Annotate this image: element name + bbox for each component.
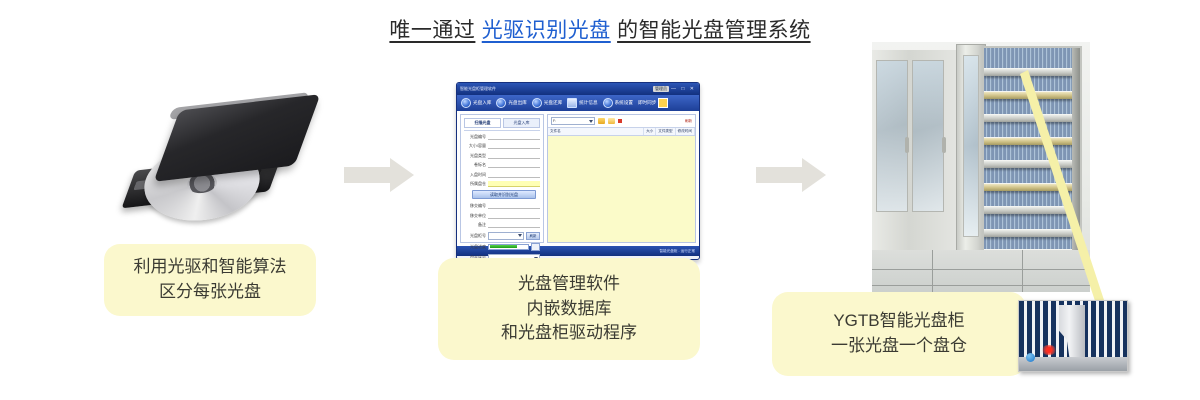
sync-icon: [658, 98, 668, 108]
cabinet-handle-right: [942, 137, 946, 153]
field-input-volume[interactable]: [488, 162, 540, 168]
field-row-transfer-id: 移交编号: [464, 203, 540, 209]
arrow-shaft: [756, 167, 804, 183]
file-pane-toolbar: F: 刷新: [548, 115, 695, 127]
toolbar-label-disc-in: 光盘入库: [473, 100, 491, 106]
shelf-8: [984, 229, 1080, 237]
column-header-filename[interactable]: 文件名: [548, 128, 644, 135]
field-input-slot[interactable]: [488, 181, 540, 187]
field-row-disc-id: 光盘编号: [464, 134, 540, 140]
arrow-head: [390, 158, 414, 192]
refresh-button[interactable]: 刷新: [526, 232, 540, 240]
cabinet-side-rail: [1072, 48, 1080, 260]
arrow-head: [802, 158, 826, 192]
column-header-modified[interactable]: 修改时间: [676, 128, 695, 135]
field-row-slot: 所属盘仓: [464, 181, 540, 187]
tab-disc-in[interactable]: 光盘入库: [503, 118, 540, 128]
toolbar-button-sync[interactable]: 即时同步: [638, 98, 668, 108]
page-title: 唯一通过 光驱识别光盘 的智能光盘管理系统: [0, 14, 1200, 44]
management-software-window[interactable]: 智能光盘柜管理软件 管理员 — □ ✕ 光盘入库 光盘出库 光盘还库 统计信息: [456, 82, 700, 260]
column-header-size[interactable]: 大小: [644, 128, 656, 135]
field-label-remark: 备注: [464, 222, 486, 228]
field-label-intake-time: 入盘时间: [464, 172, 486, 178]
shelf-5: [984, 160, 1080, 168]
field-label-cabinet: 光盘柜号: [464, 233, 486, 239]
tile-line-3: [932, 250, 933, 292]
shelf-4: [984, 137, 1080, 145]
field-row-intake-time: 入盘时间: [464, 172, 540, 178]
field-input-disc-type[interactable]: [488, 153, 540, 159]
toolbar-button-settings[interactable]: 系统设置: [603, 98, 633, 108]
shelf-6: [984, 183, 1080, 191]
read-disc-button[interactable]: 读取并识别光盘: [472, 190, 536, 199]
caption-drive-line-2: 区分每张光盘: [134, 280, 287, 305]
statusbar-text: 智能光盘柜 - 运行正常: [659, 249, 695, 254]
folder-open-icon[interactable]: [608, 118, 615, 124]
tile-line-4: [1022, 250, 1023, 292]
caption-cabinet-line-1: YGTB智能光盘柜: [831, 309, 967, 334]
field-row-cabinet-select: 光盘柜号 刷新: [464, 232, 540, 240]
app-left-panel: 扫描光盘 光盘入库 光盘编号 大小/容量 光盘类型 卷标名: [460, 114, 544, 243]
gripper-closeup-inset: [1018, 300, 1128, 372]
caption-drive-line-1: 利用光驱和智能算法: [134, 255, 287, 280]
gear-icon: [603, 98, 613, 108]
drive-path-value: F:: [553, 119, 556, 123]
title-highlight: 光驱识别光盘: [482, 19, 611, 42]
chevron-down-icon: [589, 120, 593, 123]
field-row-progress: 光盘进度: [464, 243, 540, 251]
toolbar-label-sync: 即时同步: [638, 100, 656, 106]
shelf-1: [984, 68, 1080, 76]
field-label-disc-type: 光盘类型: [464, 153, 486, 159]
field-input-remark[interactable]: [488, 222, 540, 228]
field-label-slot: 所属盘仓: [464, 181, 486, 187]
field-input-capacity[interactable]: [488, 143, 540, 149]
toolbar-label-settings: 系统设置: [615, 100, 633, 106]
tile-line-1: [872, 269, 1090, 270]
user-chip: 管理员: [653, 86, 669, 92]
tile-line-2: [872, 285, 1090, 286]
toolbar-button-stats[interactable]: 统计信息: [567, 98, 597, 108]
field-label-capacity: 大小/容量: [464, 143, 486, 149]
slide-canvas: 唯一通过 光驱识别光盘 的智能光盘管理系统 利用光驱和智能算法 区分每张光盘 智…: [0, 0, 1200, 400]
field-row-transfer-org: 移交单位: [464, 213, 540, 219]
caption-software: 光盘管理软件 内嵌数据库 和光盘柜驱动程序: [438, 258, 700, 360]
field-label-progress: 光盘进度: [464, 244, 486, 250]
field-input-intake-time[interactable]: [488, 172, 540, 178]
title-tail: 的智能光盘管理系统: [617, 19, 811, 42]
window-controls[interactable]: — □ ✕: [671, 86, 696, 92]
app-file-pane: F: 刷新 文件名 大小 文件类型 修改时间: [547, 114, 696, 243]
file-pane-refresh-link[interactable]: 刷新: [685, 119, 692, 124]
field-label-transfer-id: 移交编号: [464, 203, 486, 209]
toolbar-label-disc-return: 光盘还库: [544, 100, 562, 106]
caption-software-line-1: 光盘管理软件: [501, 272, 637, 297]
tab-scan-disc[interactable]: 扫描光盘: [464, 118, 501, 128]
arrow-shaft: [344, 167, 392, 183]
optical-drive-illustration: [118, 96, 318, 236]
app-toolbar: 光盘入库 光盘出库 光盘还库 统计信息 系统设置 即时同步: [457, 95, 699, 111]
caption-drive: 利用光驱和智能算法 区分每张光盘: [104, 244, 316, 316]
cabinet-glass-left: [876, 60, 908, 212]
file-column-headers: 文件名 大小 文件类型 修改时间: [548, 127, 695, 136]
cabinet-interior: [982, 46, 1082, 262]
caption-software-line-3: 和光盘柜驱动程序: [501, 321, 637, 346]
field-input-disc-id[interactable]: [488, 134, 540, 140]
disc-out-icon: [496, 98, 506, 108]
field-label-volume: 卷标名: [464, 162, 486, 168]
app-body: 扫描光盘 光盘入库 光盘编号 大小/容量 光盘类型 卷标名: [457, 111, 699, 246]
field-row-remark: 备注: [464, 222, 540, 228]
progress-fill: [490, 245, 517, 248]
shelf-base: [1019, 357, 1127, 371]
file-list-area[interactable]: [548, 136, 695, 242]
door-glass-pane: [963, 55, 979, 237]
cabinet-select[interactable]: [488, 232, 524, 240]
app-titlebar: 智能光盘柜管理软件 管理员 — □ ✕: [457, 83, 699, 95]
disc-return-icon: [532, 98, 542, 108]
toolbar-button-disc-in[interactable]: 光盘入库: [461, 98, 491, 108]
toolbar-label-disc-out: 光盘出库: [508, 100, 526, 106]
app-tab-strip: 扫描光盘 光盘入库: [464, 118, 540, 131]
folder-icon[interactable]: [598, 118, 605, 124]
shelf-2: [984, 91, 1080, 99]
title-lead: 唯一通过: [389, 19, 475, 42]
blue-led-icon: [1026, 353, 1035, 362]
arrow-software-to-cabinet: [756, 158, 826, 192]
caption-cabinet: YGTB智能光盘柜 一张光盘一个盘仓: [772, 292, 1026, 376]
field-row-disc-type: 光盘类型: [464, 153, 540, 159]
field-input-transfer-org[interactable]: [488, 213, 540, 219]
field-label-transfer-org: 移交单位: [464, 213, 486, 219]
cabinet-glass-right: [912, 60, 944, 212]
floor-tiles: [872, 250, 1090, 292]
disc-in-icon: [461, 98, 471, 108]
laser-indicator-icon: [1041, 345, 1057, 355]
toolbar-button-disc-return[interactable]: 光盘还库: [532, 98, 562, 108]
column-header-filetype[interactable]: 文件类型: [656, 128, 675, 135]
caption-cabinet-line-2: 一张光盘一个盘仓: [831, 334, 967, 359]
arrow-drive-to-software: [344, 158, 414, 192]
field-row-capacity: 大小/容量: [464, 143, 540, 149]
caption-software-line-2: 内嵌数据库: [501, 297, 637, 322]
stats-icon: [567, 98, 577, 108]
field-input-transfer-id[interactable]: [488, 203, 540, 209]
disc-cabinet-photo: [872, 42, 1090, 292]
drive-path-select[interactable]: F:: [551, 117, 595, 125]
record-icon[interactable]: [618, 119, 622, 123]
scan-progress-bar: [488, 244, 529, 250]
chevron-down-icon: [518, 234, 522, 237]
toolbar-button-disc-out[interactable]: 光盘出库: [496, 98, 526, 108]
toolbar-label-stats: 统计信息: [579, 100, 597, 106]
shelf-3: [984, 114, 1080, 122]
shelf-7: [984, 206, 1080, 214]
field-row-volume: 卷标名: [464, 162, 540, 168]
app-title: 智能光盘柜管理软件: [460, 86, 653, 92]
cabinet-handle-left: [905, 137, 909, 153]
field-label-disc-id: 光盘编号: [464, 134, 486, 140]
app-titlebar-right: 管理员 — □ ✕: [653, 86, 696, 92]
busy-spinner-icon: [531, 243, 540, 251]
